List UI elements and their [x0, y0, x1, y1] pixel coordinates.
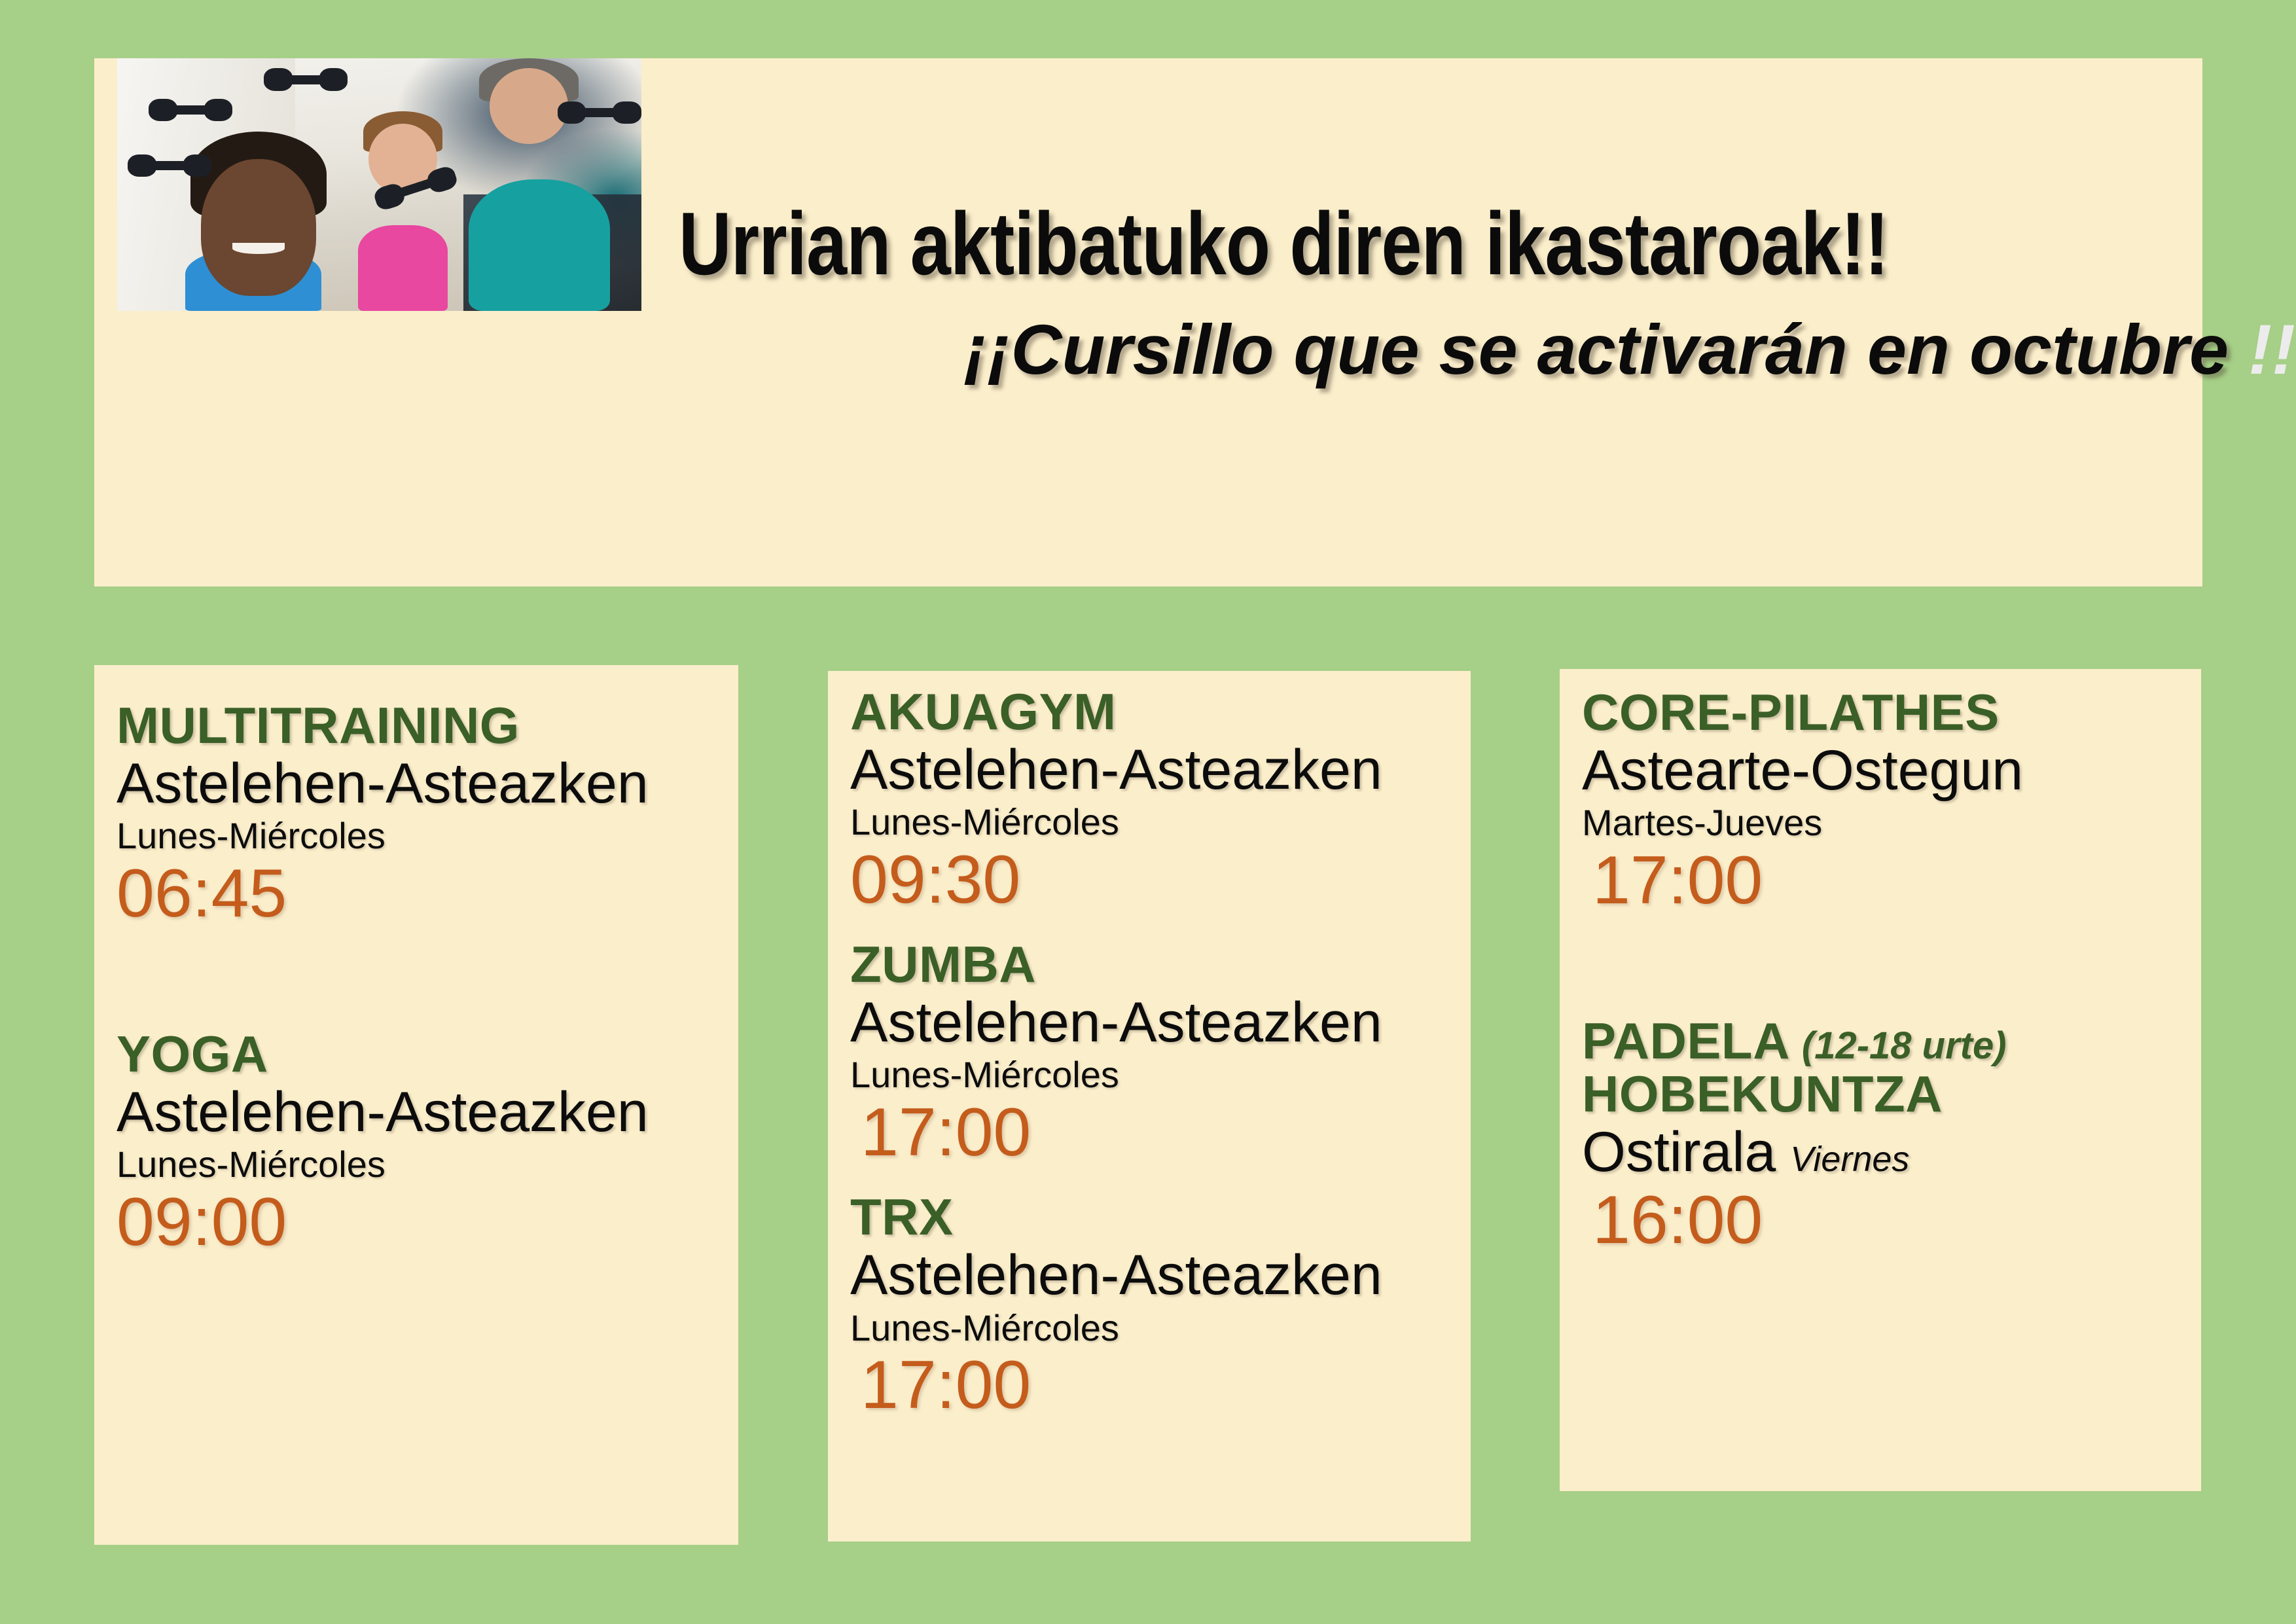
course-title: YOGA [117, 1028, 738, 1081]
photo-person-teal-shirt [469, 179, 610, 311]
course-days-basque: Astelehen-Asteazken [117, 1081, 738, 1144]
course-column-2: AKUAGYM Astelehen-Asteazken Lunes-Miérco… [828, 671, 1471, 1542]
course-days-spanish: Lunes-Miércoles [117, 815, 738, 857]
course-title: CORE-PILATHES [1582, 686, 2201, 739]
course-time: 17:00 [850, 1349, 1471, 1421]
course-title: PADELA [1582, 1012, 1790, 1070]
course-title-line2: HOBEKUNTZA [1582, 1068, 2201, 1121]
course-akuagym: AKUAGYM Astelehen-Asteazken Lunes-Miérco… [850, 685, 1471, 916]
course-days-spanish: Lunes-Miércoles [850, 801, 1471, 843]
course-days-spanish: Lunes-Miércoles [117, 1144, 738, 1185]
course-time: 16:00 [1582, 1184, 2201, 1256]
dumbbell-icon [128, 154, 211, 177]
course-days-basque: OstiralaViernes [1582, 1121, 2201, 1183]
course-zumba: ZUMBA Astelehen-Asteazken Lunes-Miércole… [850, 938, 1471, 1168]
course-days-basque-text: Ostirala [1582, 1121, 1776, 1183]
course-days-basque: Astelehen-Asteazken [850, 991, 1471, 1054]
dumbbell-icon [558, 101, 641, 124]
course-trx: TRX Astelehen-Asteazken Lunes-Miércoles … [850, 1191, 1471, 1421]
course-title: MULTITRAINING [117, 699, 738, 752]
course-days-spanish: Martes-Jueves [1582, 802, 2201, 844]
course-title-line1: PADELA(12-18 urte) [1582, 1015, 2201, 1068]
course-multitraining: MULTITRAINING Astelehen-Asteazken Lunes-… [117, 699, 738, 929]
spacer [850, 1168, 1471, 1191]
course-time: 17:00 [1582, 844, 2201, 916]
poster-subtitle-text: ¡¡Cursillo que se activarán en octubre [964, 310, 2249, 389]
course-days-basque: Astelehen-Asteazken [850, 738, 1471, 801]
course-days-spanish-text: Viernes [1776, 1140, 1909, 1179]
course-time: 09:00 [117, 1186, 738, 1258]
course-days-spanish: Lunes-Miércoles [850, 1307, 1471, 1349]
dumbbell-icon [264, 68, 348, 91]
course-days-spanish: Lunes-Miércoles [850, 1054, 1471, 1096]
course-days-basque: Astearte-Ostegun [1582, 739, 2201, 802]
course-days-basque: Astelehen-Asteazken [850, 1244, 1471, 1307]
spacer [117, 929, 738, 1028]
course-core-pilathes: CORE-PILATHES Astearte-Ostegun Martes-Ju… [1582, 686, 2201, 916]
header-banner: Urrian aktibatuko diren ikastaroak!! ¡¡C… [94, 58, 2202, 586]
spacer [1582, 916, 2201, 1015]
poster-title: Urrian aktibatuko diren ikastaroak!! [679, 192, 1924, 295]
spacer [850, 916, 1471, 938]
course-days-basque: Astelehen-Asteazken [117, 752, 738, 815]
course-title-agerange: (12-18 urte) [1790, 1024, 2007, 1067]
poster-subtitle-exclamation: !! [2248, 310, 2295, 389]
photo-person-pink-shirt [358, 225, 447, 311]
photo-person-front-face [201, 159, 316, 295]
course-column-3: CORE-PILATHES Astearte-Ostegun Martes-Ju… [1560, 669, 2201, 1491]
course-time: 06:45 [117, 857, 738, 929]
dumbbell-icon [149, 99, 232, 122]
course-time: 17:00 [850, 1096, 1471, 1168]
course-title: TRX [850, 1191, 1471, 1244]
course-yoga: YOGA Astelehen-Asteazken Lunes-Miércoles… [117, 1028, 738, 1258]
poster-subtitle: ¡¡Cursillo que se activarán en octubre !… [679, 308, 2295, 390]
fitness-class-photo [117, 58, 641, 311]
course-title: ZUMBA [850, 938, 1471, 991]
course-title: AKUAGYM [850, 685, 1471, 738]
course-padela-hobekuntza: PADELA(12-18 urte) HOBEKUNTZA OstiralaVi… [1582, 1015, 2201, 1256]
course-column-1: MULTITRAINING Astelehen-Asteazken Lunes-… [94, 665, 738, 1545]
course-time: 09:30 [850, 844, 1471, 916]
photo-person-teal-head [490, 68, 568, 144]
